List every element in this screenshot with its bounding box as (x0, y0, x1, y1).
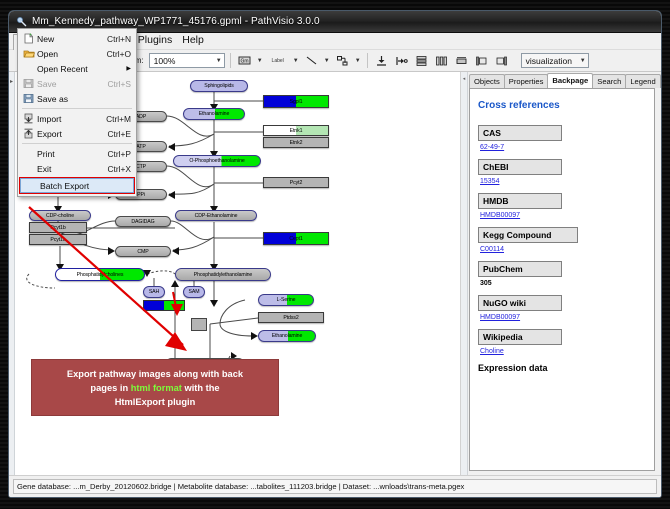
menu-item-new[interactable]: New Ctrl+N (18, 31, 136, 46)
import-icon (20, 113, 37, 124)
callout-line2-pre: pages in (90, 383, 130, 393)
menu-item-new-label: New (37, 34, 107, 44)
line-dropdown-icon[interactable]: ▼ (323, 58, 331, 64)
node-ptdss2[interactable]: Ptdss2 (258, 312, 324, 323)
datanode-tool-icon[interactable]: Gm (236, 52, 253, 69)
callout-line-3: HtmlExport plugin (115, 395, 196, 409)
new-file-icon (20, 33, 37, 44)
xref-link-hmdb[interactable]: HMDB00097 (480, 212, 520, 219)
xref-link-nugo[interactable]: HMDB00097 (480, 314, 520, 321)
node-o-phosphoethanolamine[interactable]: O-Phosphoethanolamine (173, 155, 261, 167)
zoom-combo[interactable]: 100% ▼ (149, 53, 225, 68)
align-top-icon[interactable] (373, 52, 390, 69)
interaction-dropdown-icon[interactable]: ▼ (354, 58, 362, 64)
callout-highlight: html format (131, 383, 182, 393)
node-pcyt1b[interactable]: Pcyt1b (29, 222, 87, 233)
menu-item-save-as[interactable]: Save as (18, 91, 136, 106)
node-l-serine[interactable]: L-Serine (258, 294, 314, 306)
menu-item-exit-label: Exit (37, 164, 107, 174)
node-dagidag[interactable]: DAGIDAG (115, 216, 171, 227)
node-phosphatidylcholines[interactable]: Phosphatidylcholines (55, 268, 145, 281)
node-etnk2[interactable]: Etnk2 (263, 137, 329, 148)
node-sgpl1[interactable]: Sgpl1 (263, 95, 329, 108)
menu-item-export[interactable]: Export Ctrl+E (18, 126, 136, 141)
menu-item-open-label: Open (37, 49, 107, 59)
xref-value-chebi[interactable]: 15354 (480, 178, 646, 185)
xref-value-pubchem: 305 (480, 280, 646, 287)
node-pcyt1a[interactable]: Pcyt1a (29, 234, 87, 245)
label-dropdown-icon[interactable]: ▼ (292, 58, 300, 64)
file-menu-dropdown[interactable]: New Ctrl+N Open Ctrl+O Open Recent ▶ Sav (17, 28, 137, 197)
statusbar: Gene database: ...m_Derby_20120602.bridg… (9, 475, 661, 497)
zoom-value: 100% (154, 56, 176, 66)
datanode-dropdown-icon[interactable]: ▼ (256, 58, 264, 64)
tab-objects[interactable]: Objects (469, 74, 505, 88)
menu-item-print-accel: Ctrl+P (107, 149, 136, 159)
save-as-icon (20, 93, 37, 104)
side-panel: ◂ Objects Properties Backpage Search Leg… (461, 72, 661, 475)
label-tool-icon[interactable]: Label (267, 52, 289, 69)
menu-item-save-accel: Ctrl+S (107, 79, 136, 89)
stack-center-icon[interactable] (413, 52, 430, 69)
menu-separator-1 (22, 108, 132, 109)
interaction-tool-icon[interactable] (334, 52, 351, 69)
node-etnk1[interactable]: Etnk1 (263, 125, 329, 136)
node-pemt-gene[interactable] (143, 300, 185, 311)
menu-item-open-accel: Ctrl+O (107, 49, 136, 59)
node-sphingolipids[interactable]: Sphingolipids (190, 80, 248, 92)
menu-item-import-label: Import (37, 114, 106, 124)
menu-help[interactable]: Help (177, 33, 209, 49)
node-cdp-choline[interactable]: CDP-choline (29, 210, 91, 221)
toolbar-separator-2 (367, 53, 368, 68)
menu-item-new-accel: Ctrl+N (107, 34, 136, 44)
node-sah[interactable]: SAH (143, 286, 165, 298)
menu-item-batch-export-label: Batch Export (40, 181, 133, 191)
menu-item-export-accel: Ctrl+E (107, 129, 136, 139)
chevron-down-icon: ▼ (216, 58, 222, 64)
tab-properties[interactable]: Properties (504, 74, 549, 88)
xref-source-cas: CAS (478, 125, 562, 141)
callout-line2-post: with the (182, 383, 220, 393)
save-icon (20, 78, 37, 89)
node-cdp-ethanolamine[interactable]: CDP-Ethanolamine (175, 210, 257, 221)
xref-source-nugo: NuGO wiki (478, 295, 562, 311)
statusbar-text: Gene database: ...m_Derby_20120602.bridg… (13, 479, 657, 494)
xref-value-cas[interactable]: 62-49-7 (480, 144, 646, 151)
xref-link-chebi[interactable]: 15354 (480, 178, 499, 185)
common-size-icon[interactable] (453, 52, 470, 69)
tab-backpage[interactable]: Backpage (547, 73, 593, 88)
desktop-background: Mm_Kennedy_pathway_WP1771_45176.gpml - P… (0, 0, 670, 509)
submenu-arrow-icon: ▶ (126, 65, 136, 72)
menu-item-open-recent[interactable]: Open Recent ▶ (18, 61, 136, 76)
menu-item-save: Save Ctrl+S (18, 76, 136, 91)
menu-item-import-accel: Ctrl+M (106, 114, 136, 124)
pathvisio-icon (15, 16, 27, 28)
callout-line-2: pages in html format with the (90, 381, 219, 395)
align-left-icon[interactable] (393, 52, 410, 69)
backpage-content[interactable]: Cross references CAS 62-49-7 ChEBI 15354… (469, 88, 655, 471)
menu-item-open-recent-label: Open Recent (37, 64, 126, 74)
menu-separator-2 (22, 143, 132, 144)
xref-source-chebi: ChEBI (478, 159, 562, 175)
xref-value-hmdb[interactable]: HMDB00097 (480, 212, 646, 219)
xref-value-wikipedia[interactable]: Choline (480, 348, 646, 355)
node-cept1[interactable]: Cept1 (263, 232, 329, 245)
menu-item-open[interactable]: Open Ctrl+O (18, 46, 136, 61)
expression-data-heading: Expression data (478, 363, 646, 373)
window-title: Mm_Kennedy_pathway_WP1771_45176.gpml - P… (32, 16, 320, 27)
node-anchor-box[interactable] (191, 318, 207, 331)
menu-item-import[interactable]: Import Ctrl+M (18, 111, 136, 126)
send-to-back-icon[interactable] (493, 52, 510, 69)
menu-item-print[interactable]: Print Ctrl+P (18, 146, 136, 161)
menu-item-save-label: Save (37, 79, 107, 89)
menu-item-export-label: Export (37, 129, 107, 139)
xref-link-wikipedia[interactable]: Choline (480, 348, 504, 355)
visualization-value: visualization (526, 56, 572, 66)
node-pcyt2[interactable]: Pcyt2 (263, 177, 329, 188)
menu-item-exit-accel: Ctrl+X (107, 164, 136, 174)
xref-source-hmdb: HMDB (478, 193, 562, 209)
tab-search[interactable]: Search (592, 74, 626, 88)
bring-to-front-icon[interactable] (473, 52, 490, 69)
toolbar-separator (230, 53, 231, 68)
side-panel-collapse-handle[interactable]: ◂ (461, 72, 468, 475)
cross-references-heading: Cross references (478, 100, 646, 111)
visualization-combo[interactable]: visualization ▼ (521, 53, 589, 68)
label-tool-text: Label (272, 58, 284, 64)
menu-item-print-label: Print (37, 149, 107, 159)
xref-link-kegg[interactable]: C00114 (480, 246, 504, 253)
open-folder-icon (20, 48, 37, 59)
xref-source-kegg: Kegg Compound (478, 227, 578, 243)
node-ethanolamine-1[interactable]: Ethanolamine (183, 108, 245, 120)
xref-value-nugo[interactable]: HMDB00097 (480, 314, 646, 321)
line-tool-icon[interactable] (303, 52, 320, 69)
callout-line-1: Export pathway images along with back (67, 367, 243, 381)
tab-legend[interactable]: Legend (625, 74, 660, 88)
node-ethanolamine-2[interactable]: Ethanolamine (258, 330, 316, 342)
node-phosphatidylethanolamine[interactable]: Phosphatidylethanolamine (175, 268, 271, 281)
annotation-callout: Export pathway images along with back pa… (31, 359, 279, 416)
xref-value-kegg[interactable]: C00114 (480, 246, 646, 253)
menu-item-batch-export[interactable]: Batch Export (20, 178, 134, 193)
menu-item-exit[interactable]: Exit Ctrl+X (18, 161, 136, 176)
side-panel-tabstrip[interactable]: Objects Properties Backpage Search Legen… (469, 72, 661, 88)
xref-link-cas[interactable]: 62-49-7 (480, 144, 504, 151)
chevron-down-icon: ▼ (580, 58, 586, 64)
batch-export-highlight-box: Batch Export (19, 177, 135, 194)
xref-source-wikipedia: Wikipedia (478, 329, 562, 345)
menu-plugins[interactable]: Plugins (133, 33, 177, 49)
node-cmp[interactable]: CMP (115, 246, 171, 257)
svg-text:Gm: Gm (240, 59, 248, 65)
xref-source-pubchem: PubChem (478, 261, 562, 277)
pathvisio-application-window: Mm_Kennedy_pathway_WP1771_45176.gpml - P… (8, 10, 662, 498)
distribute-icon[interactable] (433, 52, 450, 69)
export-icon (20, 128, 37, 139)
menu-item-save-as-label: Save as (37, 94, 131, 104)
node-sam[interactable]: SAM (183, 286, 205, 298)
